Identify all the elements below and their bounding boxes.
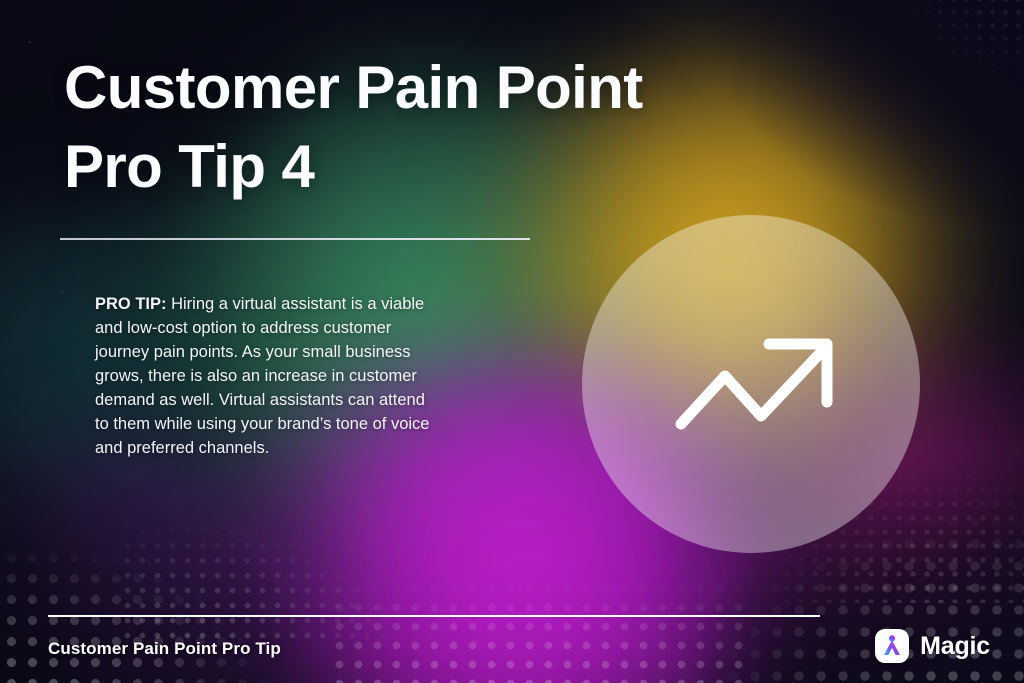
slide-canvas: Customer Pain Point Pro Tip 4 PRO TIP: H… <box>0 0 1024 683</box>
glass-circle-graphic <box>582 215 920 553</box>
footer-divider <box>48 615 820 618</box>
title-divider <box>60 238 530 240</box>
page-title: Customer Pain Point Pro Tip 4 <box>64 48 704 206</box>
page-title-line-1: Customer Pain Point <box>64 48 704 127</box>
footer-label: Customer Pain Point Pro Tip <box>48 639 281 659</box>
page-title-line-2: Pro Tip 4 <box>64 127 704 206</box>
magic-logo-glyph <box>880 634 904 658</box>
brand-name: Magic <box>920 632 990 661</box>
pro-tip-lead-label: PRO TIP: <box>95 295 167 313</box>
brand-lockup: Magic <box>875 629 990 663</box>
trending-up-arrow-icon <box>673 320 843 440</box>
magic-logo-icon <box>875 629 909 663</box>
pro-tip-body: PRO TIP: Hiring a virtual assistant is a… <box>95 292 433 460</box>
pro-tip-text: Hiring a virtual assistant is a viable a… <box>95 295 429 457</box>
